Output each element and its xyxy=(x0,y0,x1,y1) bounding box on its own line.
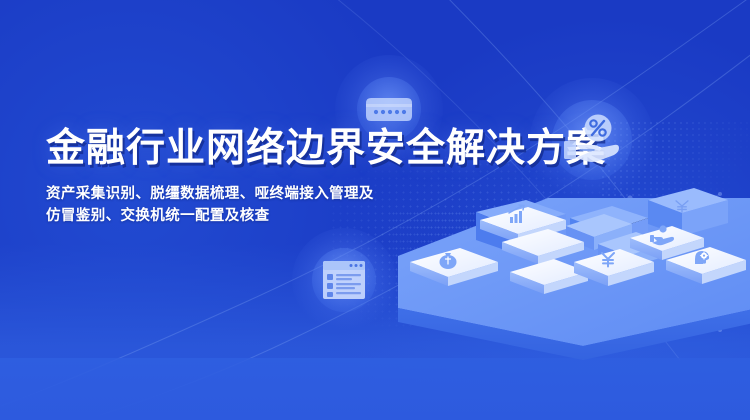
subtitle-line-2: 仿冒鉴别、交换机统一配置及核查 xyxy=(46,205,374,227)
background-bottom-band xyxy=(0,358,750,420)
isometric-finance-platform xyxy=(398,196,750,366)
banner-root: 金融行业网络边界安全解决方案 资产采集识别、脱缰数据梳理、哑终端接入管理及 仿冒… xyxy=(0,0,750,420)
page-subtitle: 资产采集识别、脱缰数据梳理、哑终端接入管理及 仿冒鉴别、交换机统一配置及核查 xyxy=(46,183,374,227)
floating-badge-document xyxy=(292,228,396,332)
server-switch-icon xyxy=(362,89,416,129)
hand-percent-coin-icon xyxy=(558,111,626,169)
page-title: 金融行业网络边界安全解决方案 xyxy=(46,124,606,174)
document-list-icon xyxy=(321,259,367,301)
subtitle-line-1: 资产采集识别、脱缰数据梳理、哑终端接入管理及 xyxy=(46,183,374,205)
